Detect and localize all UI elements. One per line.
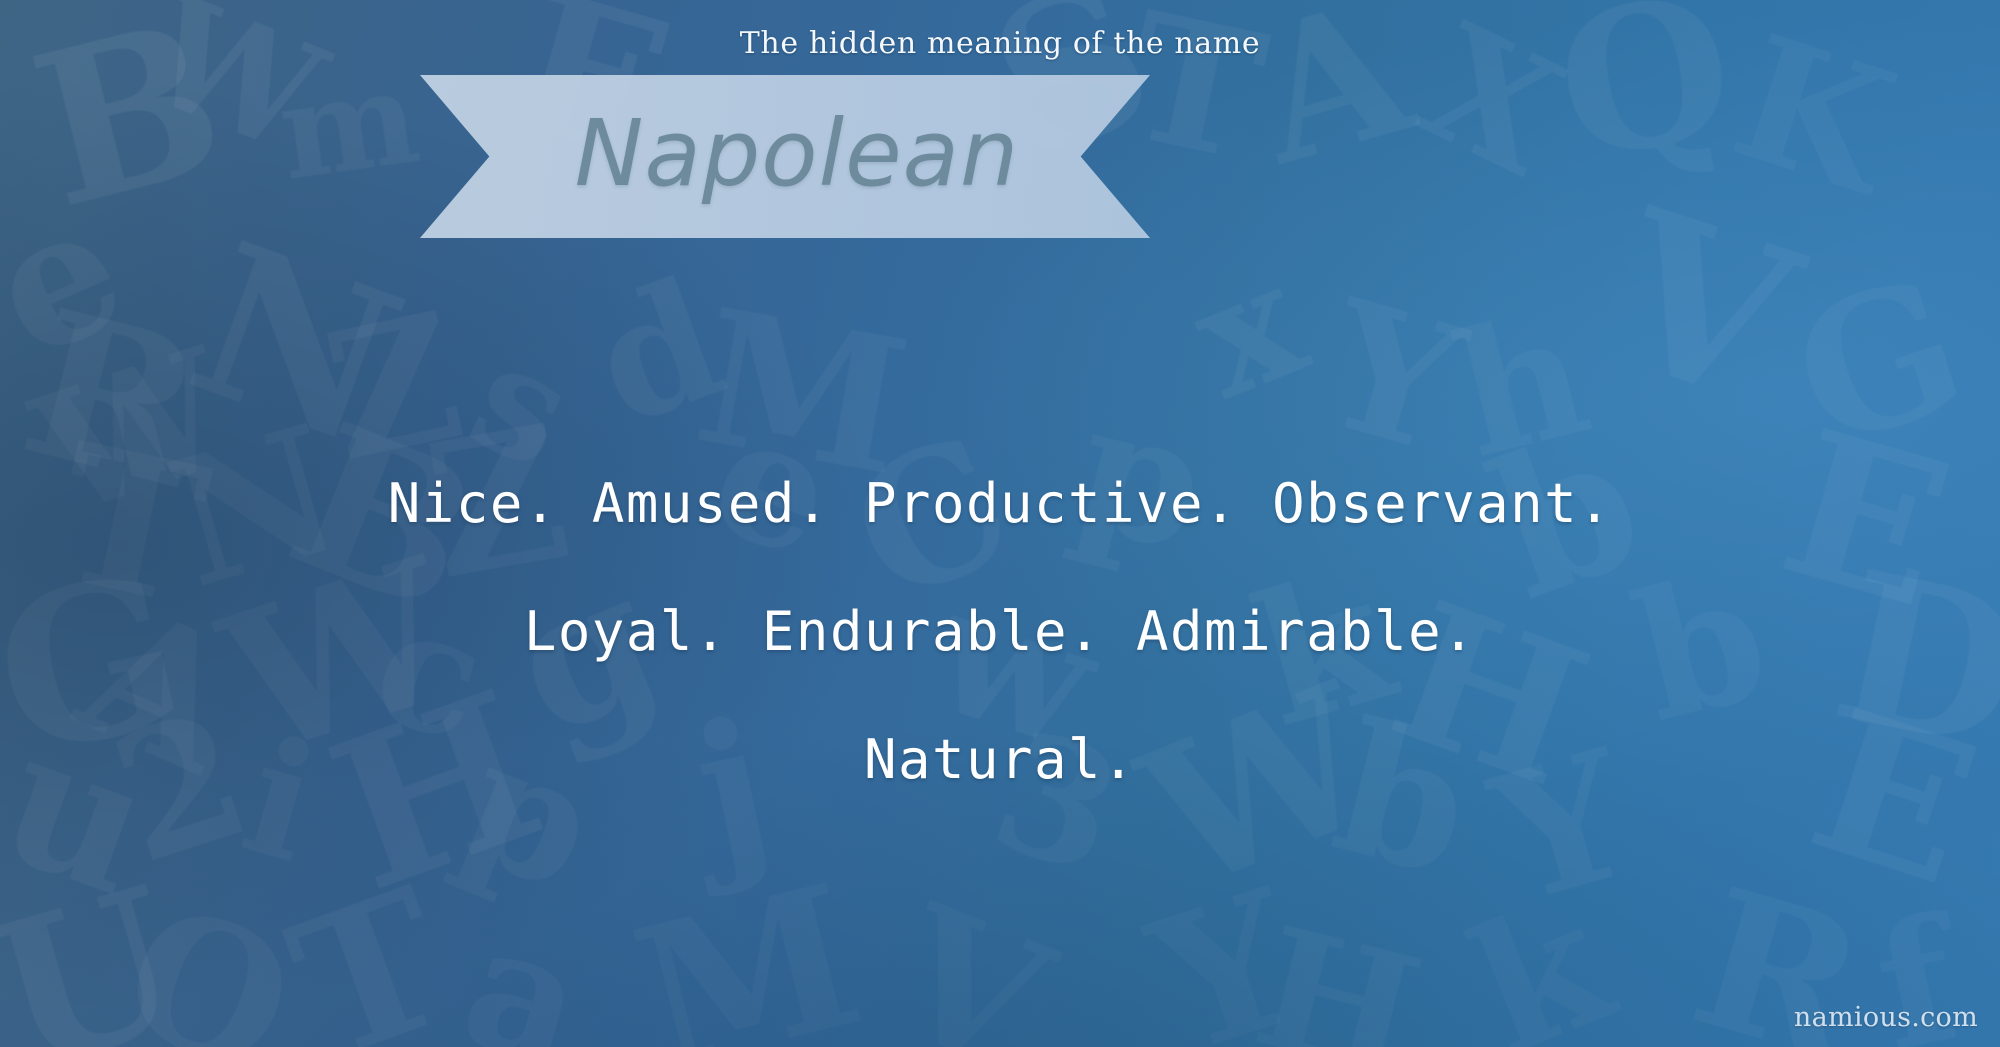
name-ribbon: Napolean bbox=[420, 75, 1150, 238]
meaning-text-block: Nice. Amused. Productive. Observant. Loy… bbox=[0, 440, 2000, 824]
name-meaning-card: BWmFSTAXQKeRWNZsdMxYhVGTNBZeCpbEGAWcgwkH… bbox=[0, 0, 2000, 1047]
meaning-line: Natural. bbox=[0, 696, 2000, 824]
site-watermark: namious.com bbox=[1794, 1002, 1978, 1033]
meaning-line: Loyal. Endurable. Admirable. bbox=[0, 568, 2000, 696]
meaning-line: Nice. Amused. Productive. Observant. bbox=[0, 440, 2000, 568]
page-title: The hidden meaning of the name bbox=[0, 26, 2000, 61]
name-text: Napolean bbox=[420, 75, 1150, 238]
